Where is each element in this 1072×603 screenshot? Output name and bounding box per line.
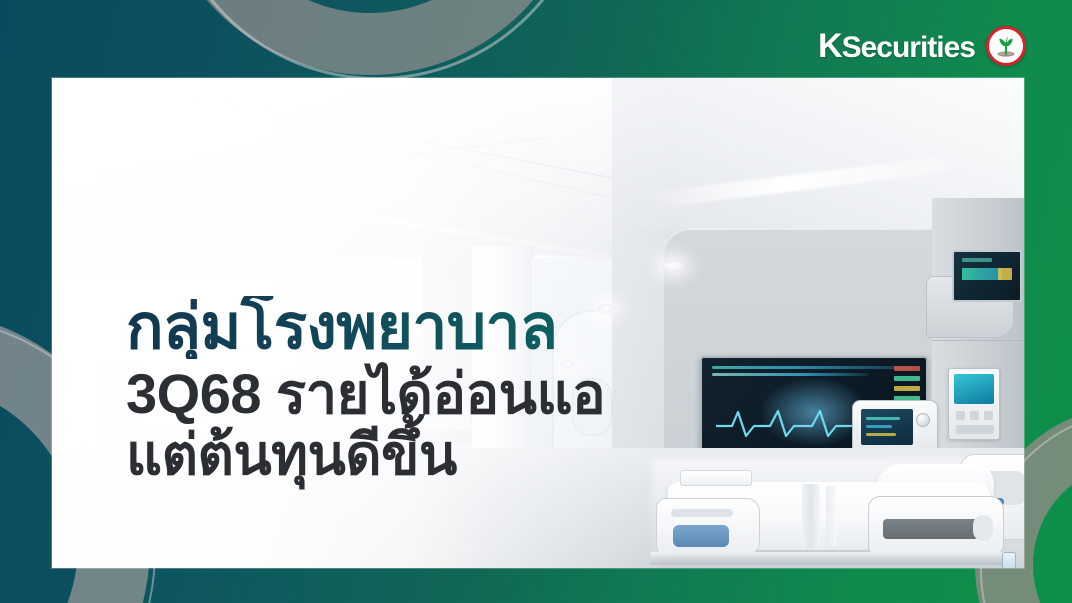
photo-card: กลุ่มโรงพยาบาล 3Q68 รายได้อ่อนแอ แต่ต้นท… bbox=[52, 78, 1024, 568]
sheet-fold bbox=[826, 486, 836, 546]
monitor-data-rows bbox=[712, 366, 912, 380]
display-readout bbox=[962, 268, 1002, 280]
bed-frame-lower bbox=[658, 566, 998, 568]
panel-screen bbox=[954, 374, 994, 404]
cart-dial bbox=[916, 413, 930, 427]
monitor-chip bbox=[894, 386, 920, 391]
panel-button bbox=[956, 425, 994, 434]
promo-banner: KSecurities bbox=[0, 0, 1072, 603]
cart-screen bbox=[861, 409, 913, 445]
panel-button bbox=[970, 411, 979, 420]
display-line bbox=[962, 258, 992, 262]
panel-button bbox=[956, 411, 965, 420]
monitor-data-row bbox=[712, 366, 912, 369]
sheet-fold bbox=[802, 484, 820, 548]
headline-line-1: กลุ่มโรงพยาบาล bbox=[126, 296, 726, 359]
rail-panel bbox=[883, 519, 979, 539]
monitor-data-row bbox=[712, 373, 868, 376]
rail-cutout bbox=[973, 515, 993, 541]
panel-button bbox=[984, 411, 993, 420]
ksecurities-logo: KSecurities bbox=[818, 26, 1026, 66]
headline-block: กลุ่มโรงพยาบาล 3Q68 รายได้อ่อนแอ แต่ต้นท… bbox=[126, 296, 726, 487]
headline-line-2: 3Q68 รายได้อ่อนแอ bbox=[126, 365, 726, 422]
rail-blue-pad bbox=[673, 525, 729, 547]
monitor-chip bbox=[894, 366, 920, 371]
logo-name-rest: Securities bbox=[842, 31, 975, 64]
logo-initial: K bbox=[818, 27, 842, 65]
headline-line-3: แต่ต้นทุนดีขึ้น bbox=[126, 426, 726, 483]
display-readout-secondary bbox=[998, 268, 1012, 280]
rail-groove bbox=[671, 509, 733, 517]
bed-frame bbox=[650, 552, 1006, 565]
bed-remote-control bbox=[1002, 552, 1016, 568]
monitor-chip bbox=[894, 376, 920, 381]
seedling-sprout-icon bbox=[986, 26, 1026, 66]
wall-seam bbox=[932, 340, 1024, 341]
bed-side-rail-far bbox=[868, 496, 1004, 558]
logo-wordmark: KSecurities bbox=[818, 27, 975, 66]
secondary-wall-display bbox=[952, 250, 1022, 302]
wall-control-panel bbox=[948, 368, 1000, 440]
